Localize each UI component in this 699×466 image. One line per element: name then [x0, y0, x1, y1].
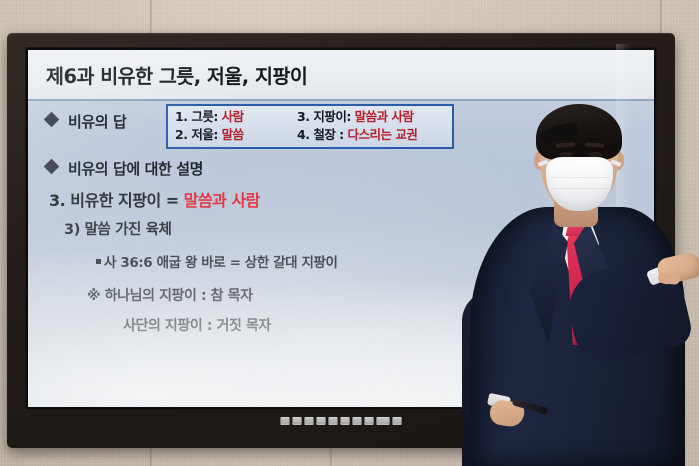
slide-title-band: 제6과 비유한 그릇, 저울, 지팡이 [28, 50, 654, 101]
answer-row: 2. 저울: 말씀 4. 철장 : 다스리는 교권 [175, 126, 446, 144]
answer-heading-label: 비유의 답 [68, 111, 126, 132]
diamond-bullet-icon [44, 159, 60, 175]
answer-term-2: 저울: [191, 127, 218, 142]
answer-num-2: 2. [175, 127, 187, 142]
answer-term-4: 철장 : [313, 127, 343, 142]
explanation-line-3: 3. 비유한 지팡이 = 말씀과 사람 [49, 187, 260, 211]
presenter-thumb [657, 272, 680, 285]
face-mask-fold [552, 188, 607, 189]
right-button[interactable] [353, 417, 362, 425]
answer-row: 1. 그릇: 사람 3. 지팡이: 말씀과 사람 [175, 108, 446, 126]
power-button[interactable] [281, 417, 290, 425]
answer-term-1: 그릇: [191, 109, 218, 124]
diamond-bullet-icon [44, 112, 60, 128]
verse-text: 사 36:6 애굽 왕 바로 = 상한 갈대 지팡이 [104, 251, 338, 271]
explanation-line-3-prefix: 3. 비유한 지팡이 = [49, 191, 184, 210]
down-button[interactable] [329, 417, 338, 425]
answer-cell-3: 3. 지팡이: 말씀과 사람 [297, 108, 446, 126]
explanation-line-3-highlight: 말씀과 사람 [184, 191, 260, 210]
enter-button[interactable] [365, 417, 374, 425]
answer-value-2: 말씀 [222, 127, 244, 142]
answer-num-4: 4. [297, 127, 309, 142]
answer-value-3: 말씀과 사람 [355, 109, 414, 124]
page-title: 제6과 비유한 그릇, 저울, 지팡이 [46, 60, 307, 89]
answer-cell-2: 2. 저울: 말씀 [175, 126, 297, 144]
answer-box: 1. 그릇: 사람 3. 지팡이: 말씀과 사람 2. [166, 104, 454, 149]
answer-num-3: 3. [297, 109, 309, 124]
answer-cell-1: 1. 그릇: 사람 [175, 108, 297, 126]
answer-term-3: 지팡이: [313, 109, 351, 124]
face-mask-icon [546, 157, 613, 211]
answer-cell-4: 4. 철장 : 다스리는 교권 [297, 126, 446, 144]
source-button[interactable] [293, 417, 302, 425]
note-line-1: ※ 하나님의 지팡이 : 참 목자 [87, 285, 253, 305]
face-mask-fold [550, 177, 609, 178]
answer-value-4: 다스리는 교권 [348, 127, 418, 142]
note-line-2: 사단의 지팡이 : 거짓 목자 [123, 315, 271, 335]
answer-value-1: 사람 [222, 109, 244, 124]
up-button[interactable] [317, 417, 326, 425]
volume-button[interactable] [377, 417, 390, 425]
home-button[interactable] [393, 417, 402, 425]
answer-heading-row: 비유의 답 [46, 110, 126, 132]
explanation-heading-label: 비유의 답에 대한 설명 [68, 158, 203, 179]
left-button[interactable] [341, 417, 350, 425]
square-bullet-icon [96, 259, 101, 264]
verse-line: 사 36:6 애굽 왕 바로 = 상한 갈대 지팡이 [96, 251, 338, 271]
explanation-line-3p: 3) 말씀 가진 육체 [64, 218, 172, 239]
explanation-heading-row: 비유의 답에 대한 설명 [46, 157, 203, 179]
display-control-strip[interactable] [281, 417, 402, 425]
menu-button[interactable] [305, 417, 314, 425]
presenter [462, 95, 699, 466]
answer-num-1: 1. [175, 109, 187, 124]
screenshot-root: 제6과 비유한 그릇, 저울, 지팡이 비유의 답 1. 그릇: 사람 [0, 0, 699, 466]
